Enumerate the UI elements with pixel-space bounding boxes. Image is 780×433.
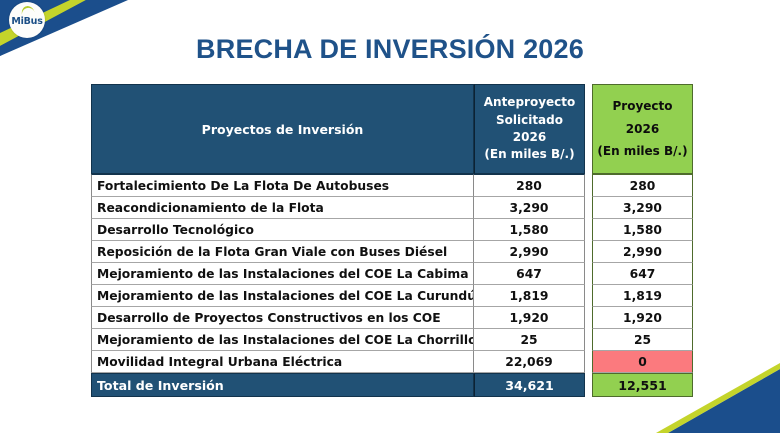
table-total-row: Total de Inversión34,62112,551 [91,373,693,397]
cell-anteproyecto-value: 1,920 [474,307,585,329]
cell-proyecto-value: 1,920 [592,307,693,329]
cell-anteproyecto-value: 2,990 [474,241,585,263]
cell-spacer [585,307,592,329]
cell-proyecto-value: 1,580 [592,219,693,241]
table-row: Desarrollo de Proyectos Constructivos en… [91,307,693,329]
table-body: Fortalecimiento De La Flota De Autobuses… [91,174,693,397]
cell-spacer [585,351,592,373]
slide: MiBus BRECHA DE INVERSIÓN 2026 Proyectos… [0,0,780,433]
column-header-proyecto-line-3: (En miles B/.) [593,140,692,163]
column-header-proyecto: Proyecto 2026 (En miles B/.) [592,84,693,174]
cell-anteproyecto-value: 1,819 [474,285,585,307]
table-row: Desarrollo Tecnológico1,5801,580 [91,219,693,241]
cell-spacer [585,373,592,397]
table-row: Reacondicionamiento de la Flota3,2903,29… [91,197,693,219]
cell-total-label: Total de Inversión [91,373,474,397]
cell-anteproyecto-value: 1,580 [474,219,585,241]
cell-spacer [585,285,592,307]
cell-spacer [585,174,592,197]
column-header-anteproyecto-line-4: (En miles B/.) [475,146,584,163]
column-header-anteproyecto-line-3: 2026 [475,129,584,146]
logo-swoosh-icon [20,4,35,17]
cell-spacer [585,219,592,241]
column-spacer [585,84,592,174]
cell-project-name: Desarrollo Tecnológico [91,219,474,241]
cell-anteproyecto-value: 25 [474,329,585,351]
column-header-anteproyecto-line-2: Solicitado [475,112,584,129]
column-header-projects: Proyectos de Inversión [91,84,474,174]
cell-proyecto-value: 1,819 [592,285,693,307]
cell-spacer [585,241,592,263]
cell-spacer [585,263,592,285]
table-row: Movilidad Integral Urbana Eléctrica22,06… [91,351,693,373]
cell-proyecto-value: 280 [592,174,693,197]
column-header-anteproyecto: Anteproyecto Solicitado 2026 (En miles B… [474,84,585,174]
cell-anteproyecto-value: 647 [474,263,585,285]
cell-total-proyecto: 12,551 [592,373,693,397]
page-title: BRECHA DE INVERSIÓN 2026 [0,34,780,65]
cell-project-name: Desarrollo de Proyectos Constructivos en… [91,307,474,329]
column-header-proyecto-line-1: Proyecto [593,95,692,118]
investment-gap-table: Proyectos de Inversión Anteproyecto Soli… [91,84,693,397]
cell-proyecto-value: 2,990 [592,241,693,263]
cell-anteproyecto-value: 280 [474,174,585,197]
cell-spacer [585,197,592,219]
cell-proyecto-value: 3,290 [592,197,693,219]
cell-project-name: Reacondicionamiento de la Flota [91,197,474,219]
cell-project-name: Mejoramiento de las Instalaciones del CO… [91,329,474,351]
cell-project-name: Movilidad Integral Urbana Eléctrica [91,351,474,373]
cell-project-name: Reposición de la Flota Gran Viale con Bu… [91,241,474,263]
cell-project-name: Fortalecimiento De La Flota De Autobuses [91,174,474,197]
cell-project-name: Mejoramiento de las Instalaciones del CO… [91,285,474,307]
column-header-proyecto-line-2: 2026 [593,118,692,141]
cell-proyecto-value-alert: 0 [592,351,693,373]
cell-total-anteproyecto: 34,621 [474,373,585,397]
column-header-anteproyecto-line-1: Anteproyecto [475,94,584,111]
cell-project-name: Mejoramiento de las Instalaciones del CO… [91,263,474,285]
mibus-logo-label: MiBus [11,16,42,27]
cell-anteproyecto-value: 3,290 [474,197,585,219]
cell-proyecto-value: 25 [592,329,693,351]
table-header: Proyectos de Inversión Anteproyecto Soli… [91,84,693,174]
cell-proyecto-value: 647 [592,263,693,285]
table-row: Mejoramiento de las Instalaciones del CO… [91,329,693,351]
table-row: Reposición de la Flota Gran Viale con Bu… [91,241,693,263]
table-row: Mejoramiento de las Instalaciones del CO… [91,263,693,285]
table-row: Fortalecimiento De La Flota De Autobuses… [91,174,693,197]
table-row: Mejoramiento de las Instalaciones del CO… [91,285,693,307]
cell-anteproyecto-value: 22,069 [474,351,585,373]
cell-spacer [585,329,592,351]
mibus-logo: MiBus [9,2,45,38]
